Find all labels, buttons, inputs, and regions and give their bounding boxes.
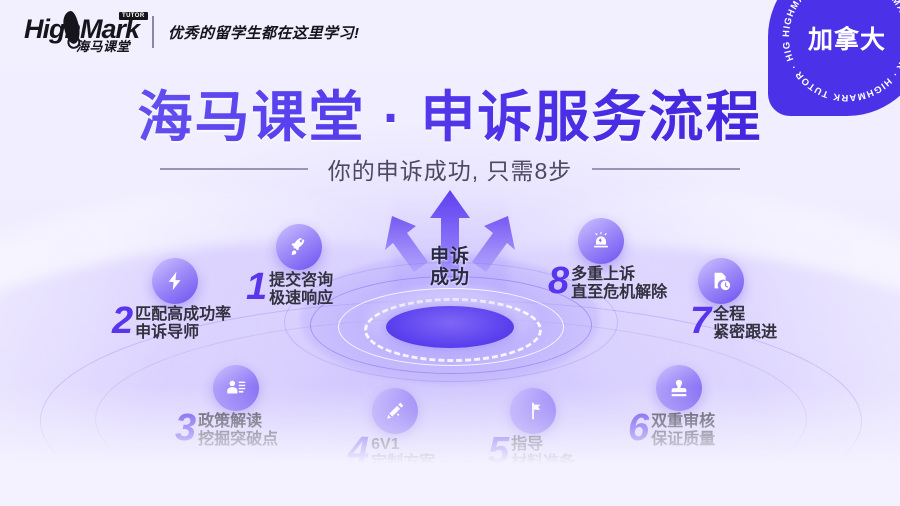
logo-chinese-name: 海马课堂 [76,36,130,55]
step-2-line1: 匹配高成功率 [135,306,231,323]
step-2-text: 匹配高成功率 申诉导师 [135,306,231,342]
badge-country-label: 加拿大 [768,20,900,56]
page-title: 海马课堂 · 申诉服务流程 [0,72,900,152]
header-divider [152,16,154,48]
subtitle-row: 你的申诉成功, 只需8步 [0,152,900,186]
step-7-number: 7 [690,306,710,337]
step-2-number: 2 [112,306,132,337]
stage-core-disc [386,306,514,348]
center-label: 申诉 成功 [282,246,618,289]
step-1-number: 1 [246,272,266,303]
center-stage: 申诉 成功 [282,188,618,388]
subtitle-rule-right [592,168,740,170]
bottom-fade [0,386,900,506]
document-clock-icon [698,258,744,304]
center-label-line1: 申诉 [430,246,470,267]
subtitle-rule-left [160,168,308,170]
step-7-line2: 紧密跟进 [713,324,777,342]
page-header: HighMark TUTOR 海马课堂 优秀的留学生都在这里学习! HIGHMA… [0,0,900,62]
step-7-label: 7 全程 紧密跟进 [690,306,777,342]
step-2-line2: 申诉导师 [135,324,231,342]
logo-tutor-tag: TUTOR [119,12,148,20]
page-subtitle: 你的申诉成功, 只需8步 [328,152,573,186]
highmark-logo[interactable]: HighMark TUTOR 海马课堂 [24,12,146,54]
step-1-line2: 极速响应 [269,290,333,308]
step-2-label: 2 匹配高成功率 申诉导师 [112,306,231,342]
step-7-line1: 全程 [713,306,745,323]
step-7-text: 全程 紧密跟进 [713,306,777,342]
infographic-canvas: HighMark TUTOR 海马课堂 优秀的留学生都在这里学习! HIGHMA… [0,0,900,506]
center-label-line2: 成功 [430,267,470,288]
lightning-bolt-icon [152,258,198,304]
header-slogan: 优秀的留学生都在这里学习! [168,22,360,43]
